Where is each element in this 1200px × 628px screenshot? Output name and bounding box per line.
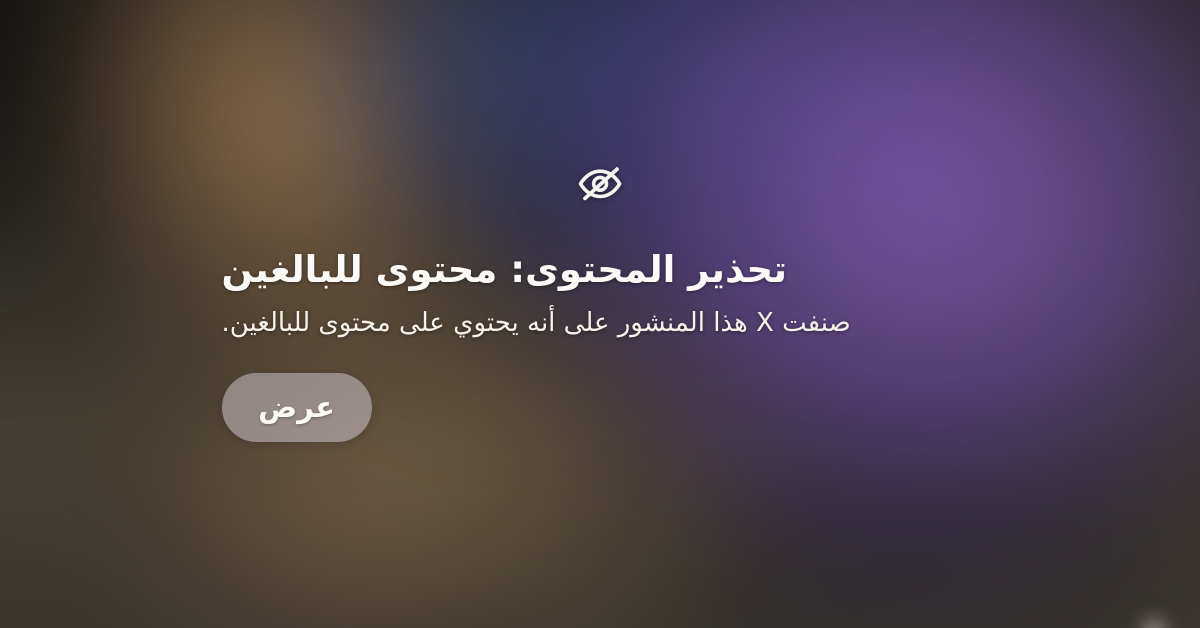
view-button[interactable]: عرض	[222, 373, 372, 442]
eye-off-icon	[572, 158, 628, 210]
warning-panel: تحذير المحتوى: محتوى للبالغين صنفت X هذا…	[0, 0, 1200, 628]
warning-description: صنفت X هذا المنشور على أنه يحتوي على محت…	[222, 306, 851, 341]
warning-text-block: تحذير المحتوى: محتوى للبالغين صنفت X هذا…	[222, 248, 992, 442]
content-warning-overlay: تحذير المحتوى: محتوى للبالغين صنفت X هذا…	[0, 0, 1200, 628]
page-title: تحذير المحتوى: محتوى للبالغين	[222, 248, 788, 292]
